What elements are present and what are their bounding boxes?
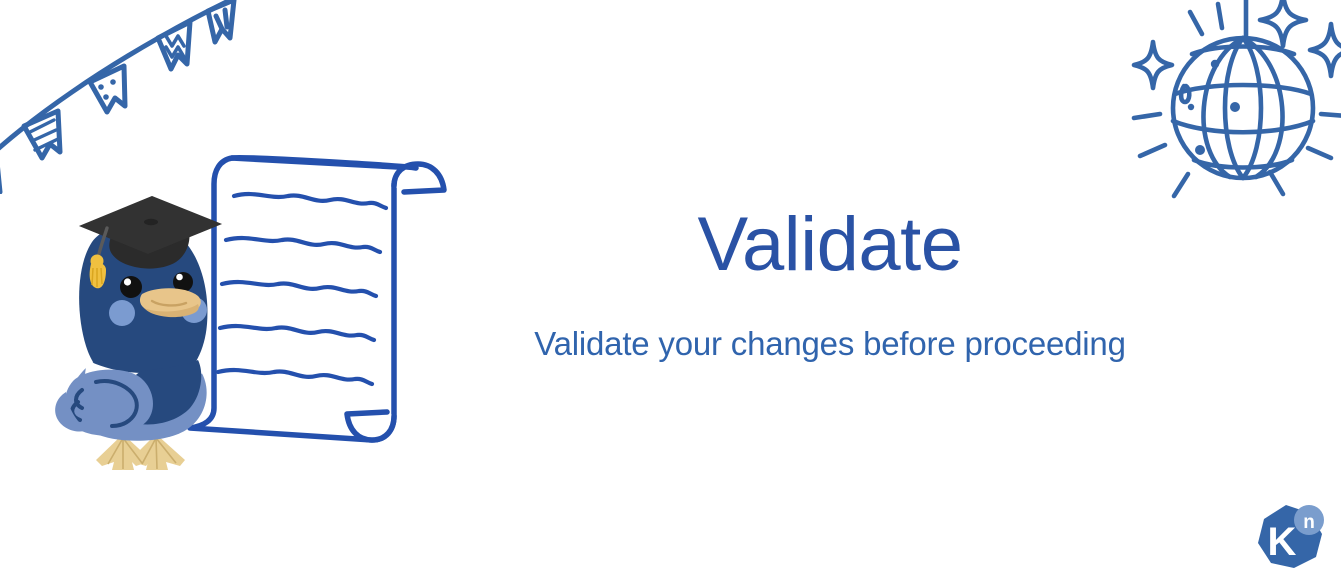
- disco-ball-illustration: [1118, 0, 1341, 225]
- party-bunting-flags-illustration: [0, 0, 254, 194]
- slide-canvas: Validate Validate your changes before pr…: [0, 0, 1341, 585]
- kn-logo[interactable]: K n: [1254, 503, 1326, 571]
- page-subtitle: Validate your changes before proceeding: [470, 285, 1190, 363]
- logo-letter-k: K: [1268, 520, 1297, 564]
- slide-text-block: Validate Validate your changes before pr…: [470, 205, 1190, 363]
- paper-scroll-illustration: [176, 138, 466, 458]
- logo-letter-n: n: [1303, 512, 1315, 533]
- graduate-bird-mascot-illustration: [52, 182, 242, 472]
- page-title: Validate: [470, 205, 1190, 285]
